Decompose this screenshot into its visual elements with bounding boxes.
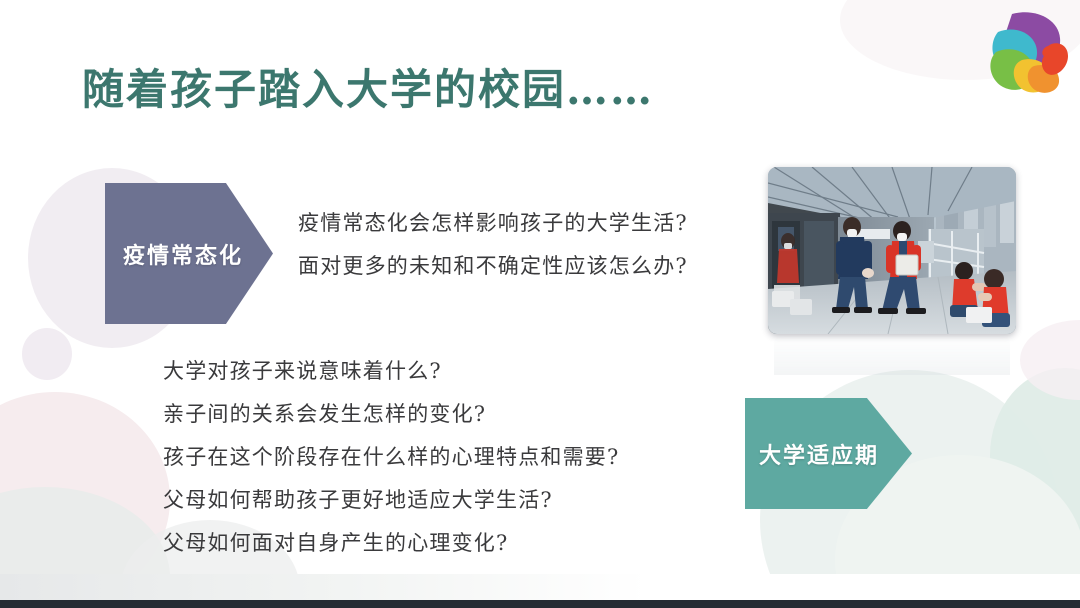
photo-reflection [774, 335, 1010, 375]
banner-adaptation-label: 大学适应期 [759, 438, 879, 470]
question-item: 父母如何帮助孩子更好地适应大学生活? [163, 490, 619, 511]
background-blob-pink-right [1020, 320, 1080, 400]
banner-university-adaptation[interactable]: 大学适应期 [745, 398, 912, 509]
question-item: 大学对孩子来说意味着什么? [163, 361, 619, 382]
question-item: 父母如何面对自身产生的心理变化? [163, 533, 619, 554]
photo-container [768, 167, 1016, 334]
background-blob-mint-2 [990, 368, 1080, 543]
question-item: 面对更多的未知和不确定性应该怎么办? [298, 256, 688, 277]
bottom-gradient-haze [0, 574, 1080, 600]
rainbow-petal-logo-icon [986, 10, 1068, 94]
question-list-epidemic: 疫情常态化会怎样影响孩子的大学生活? 面对更多的未知和不确定性应该怎么办? [298, 213, 688, 299]
question-item: 疫情常态化会怎样影响孩子的大学生活? [298, 213, 688, 234]
banner-epidemic-normalization[interactable]: 疫情常态化 [105, 183, 273, 324]
question-item: 孩子在这个阶段存在什么样的心理特点和需要? [163, 447, 619, 468]
banner-epidemic-label: 疫情常态化 [123, 238, 243, 270]
question-list-adaptation: 大学对孩子来说意味着什么? 亲子间的关系会发生怎样的变化? 孩子在这个阶段存在什… [163, 361, 619, 576]
volunteers-corridor-photo [768, 167, 1016, 334]
slide-title: 随着孩子踏入大学的校园…… [82, 56, 654, 117]
presentation-slide: 随着孩子踏入大学的校园…… 疫情常态化 疫情常态化会怎样影响孩子的大学生活? 面… [0, 0, 1080, 608]
question-item: 亲子间的关系会发生怎样的变化? [163, 404, 619, 425]
background-blob-lavender-2 [22, 328, 72, 380]
bottom-bar [0, 600, 1080, 608]
